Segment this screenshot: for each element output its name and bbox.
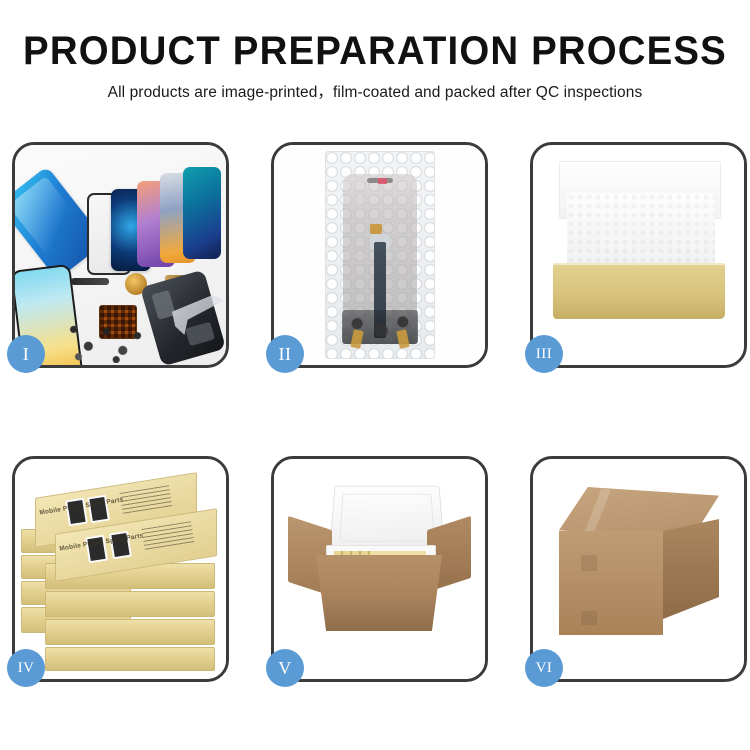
process-step-grid: I II (12, 142, 748, 682)
speaker-mesh-icon (71, 278, 109, 285)
step-4-image: Mobile Phone Spare Parts Mobile Phone Sp… (15, 459, 226, 679)
carton-front-icon (559, 531, 663, 635)
red-marker-tab-icon (378, 178, 387, 184)
step-6-image (533, 459, 744, 679)
step-badge-5: V (266, 649, 304, 687)
process-step-panel-3: III (530, 142, 747, 368)
page-header: PRODUCT PREPARATION PROCESS All products… (0, 28, 750, 102)
yellow-inner-box-icon (553, 263, 725, 319)
step-5-image (274, 459, 485, 679)
stacked-box-icon (45, 647, 215, 671)
bubble-wrap-bag-icon (325, 151, 435, 359)
step-badge-4: IV (7, 649, 45, 687)
product-preparation-process-page: PRODUCT PREPARATION PROCESS All products… (0, 0, 750, 750)
process-step-panel-6: VI (530, 456, 747, 682)
page-subtitle: All products are image-printed，film-coat… (0, 80, 750, 102)
small-parts-cluster-icon (67, 321, 149, 363)
page-title: PRODUCT PREPARATION PROCESS (15, 28, 735, 74)
step-badge-6: VI (525, 649, 563, 687)
process-step-panel-5: V (271, 456, 488, 682)
process-step-panel-2: II (271, 142, 488, 368)
box-stack-icon: Mobile Phone Spare Parts Mobile Phone Sp… (15, 459, 226, 679)
stacked-box-icon (45, 619, 215, 645)
carton-hand-hole-icon (581, 555, 597, 571)
step-1-image (15, 145, 226, 365)
carton-hand-hole-icon (581, 611, 597, 625)
step-badge-2: II (266, 335, 304, 373)
phone-screen-teal-icon (183, 167, 221, 259)
gold-contact-icon (370, 224, 382, 234)
carton-body-icon (316, 555, 442, 631)
process-step-panel-4: Mobile Phone Spare Parts Mobile Phone Sp… (12, 456, 229, 682)
stacked-box-icon (45, 591, 215, 617)
carton-side-icon (663, 519, 719, 619)
step-badge-1: I (7, 335, 45, 373)
step-3-image (533, 145, 744, 365)
step-badge-3: III (525, 335, 563, 373)
step-2-image (274, 145, 485, 365)
process-step-panel-1: I (12, 142, 229, 368)
